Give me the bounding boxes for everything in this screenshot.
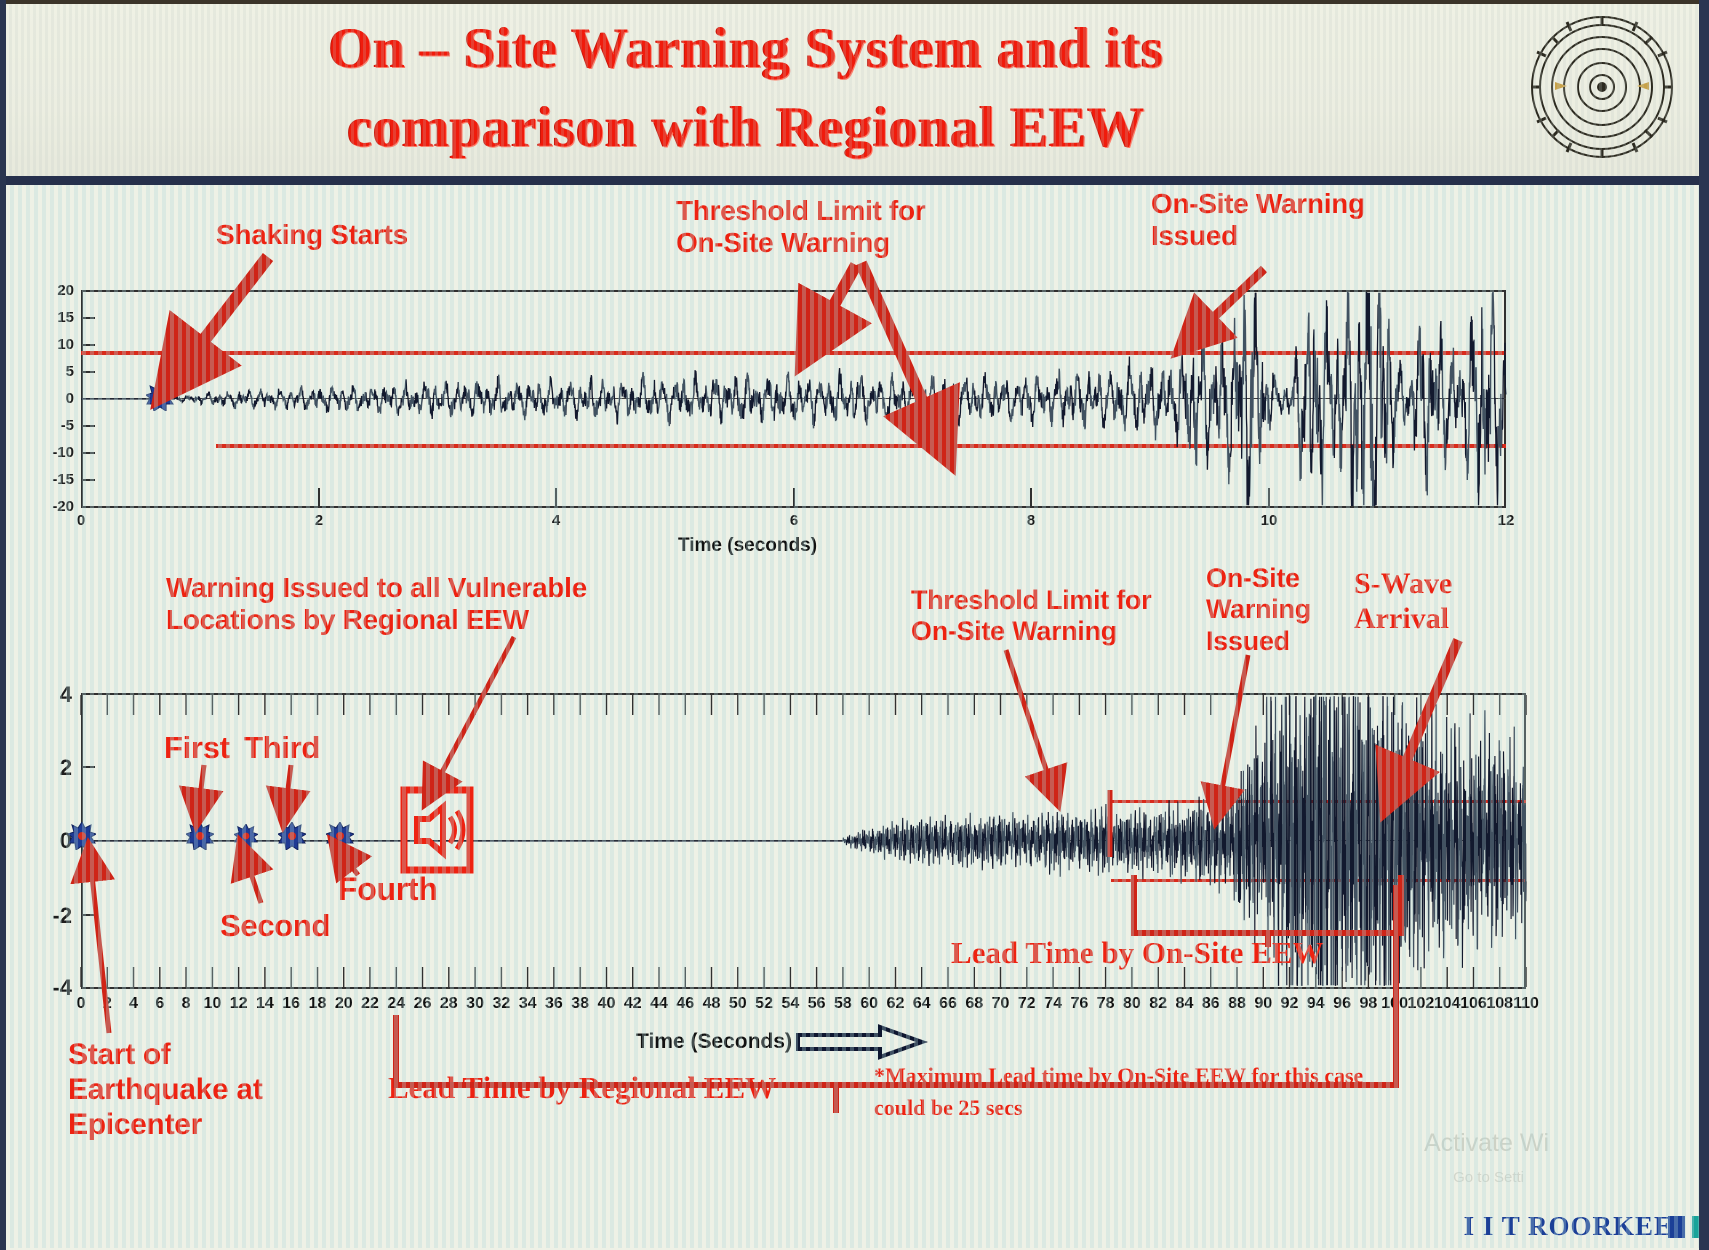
watermark-go-to-settings: Go to Setti — [1453, 1169, 1524, 1186]
institute-badge-blue — [1668, 1216, 1685, 1238]
iit-roorkee-emblem-icon — [1527, 12, 1677, 162]
institute-name: I I T ROORKEE — [1464, 1211, 1673, 1242]
page-title: On – Site Warning System and its compari… — [156, 10, 1336, 167]
watermark-activate: Activate Wi — [1424, 1129, 1549, 1158]
slide-body: 20 15 10 5 0 -5 -10 -15 -20 0 2 4 6 8 10… — [6, 185, 1699, 1248]
header-divider — [6, 176, 1699, 185]
frame-right-edge — [1699, 0, 1709, 1250]
slide-root: On – Site Warning System and its compari… — [0, 0, 1709, 1250]
annotation-arrows-layer — [6, 185, 1699, 1248]
institute-badge-teal — [1692, 1216, 1699, 1238]
page-title-line1: On – Site Warning System and its — [156, 10, 1336, 89]
page-title-line2: comparison with Regional EEW — [156, 89, 1336, 168]
slide-header: On – Site Warning System and its compari… — [6, 4, 1699, 178]
